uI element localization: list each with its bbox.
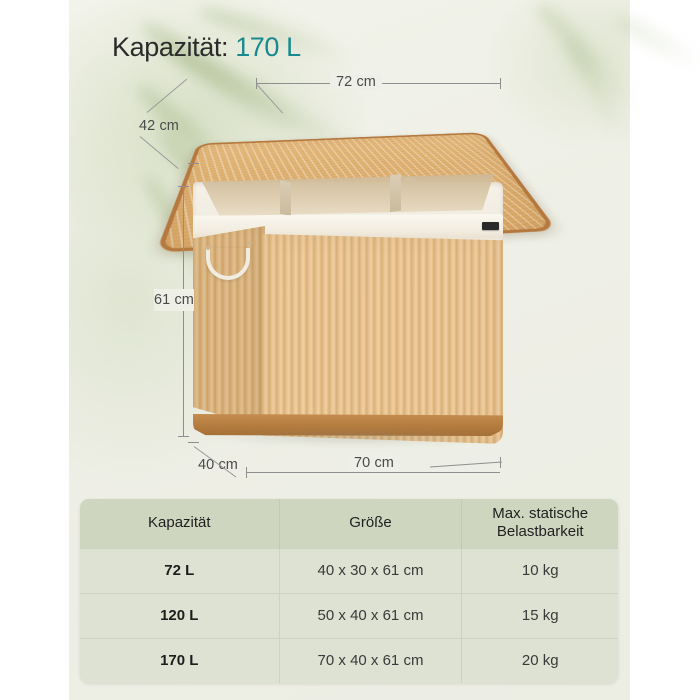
cell-size: 50 x 40 x 61 cm xyxy=(279,593,462,638)
cell-size: 70 x 40 x 61 cm xyxy=(279,638,462,683)
cell-size: 40 x 30 x 61 cm xyxy=(279,548,462,593)
infographic-canvas: Kapazität: 170 L 72 cm 42 cm xyxy=(0,0,700,700)
dimension-tick xyxy=(178,186,189,187)
table-row: 170 L 70 x 40 x 61 cm 20 kg xyxy=(80,638,618,683)
page-title-label: Kapazität: xyxy=(112,32,228,62)
dimension-tick xyxy=(246,467,247,478)
cell-capacity: 170 L xyxy=(80,638,279,683)
floor-shadow xyxy=(204,430,504,446)
table-header-row: Kapazität Größe Max. statische Belastbar… xyxy=(80,499,618,548)
cell-capacity: 72 L xyxy=(80,548,279,593)
column-header-load: Max. statische Belastbarkeit xyxy=(462,499,618,548)
page-title-value: 170 L xyxy=(235,32,301,62)
dimension-tick xyxy=(188,442,199,443)
cell-capacity: 120 L xyxy=(80,593,279,638)
brand-logo-tag xyxy=(482,222,499,230)
compartment-divider xyxy=(390,174,401,212)
handle-pin-icon xyxy=(206,246,210,250)
dimension-label-lid-width: 72 cm xyxy=(330,74,382,90)
palm-frond-shadow-icon xyxy=(610,9,700,75)
hamper-front-panel xyxy=(262,234,503,444)
dimension-tick xyxy=(500,78,501,89)
dimension-line-height xyxy=(183,186,184,436)
cell-load: 20 kg xyxy=(462,638,618,683)
handle-pin-icon xyxy=(248,241,252,245)
dimension-tick xyxy=(178,436,189,437)
column-header-capacity: Kapazität xyxy=(80,499,279,548)
cell-load: 15 kg xyxy=(462,593,618,638)
table-row: 120 L 50 x 40 x 61 cm 15 kg xyxy=(80,593,618,638)
product-illustration xyxy=(186,108,516,460)
column-header-size: Größe xyxy=(279,499,462,548)
spec-table: Kapazität Größe Max. statische Belastbar… xyxy=(80,499,618,683)
dimension-line-base-width xyxy=(246,472,500,473)
page-title: Kapazität: 170 L xyxy=(112,32,301,63)
dimension-label-base-width: 70 cm xyxy=(348,455,400,471)
dimension-label-lid-depth: 42 cm xyxy=(139,118,179,134)
cell-load: 10 kg xyxy=(462,548,618,593)
table-row: 72 L 40 x 30 x 61 cm 10 kg xyxy=(80,548,618,593)
dimension-label-height: 61 cm xyxy=(154,289,194,311)
dimension-tick xyxy=(188,163,199,164)
compartment-divider xyxy=(280,180,291,216)
